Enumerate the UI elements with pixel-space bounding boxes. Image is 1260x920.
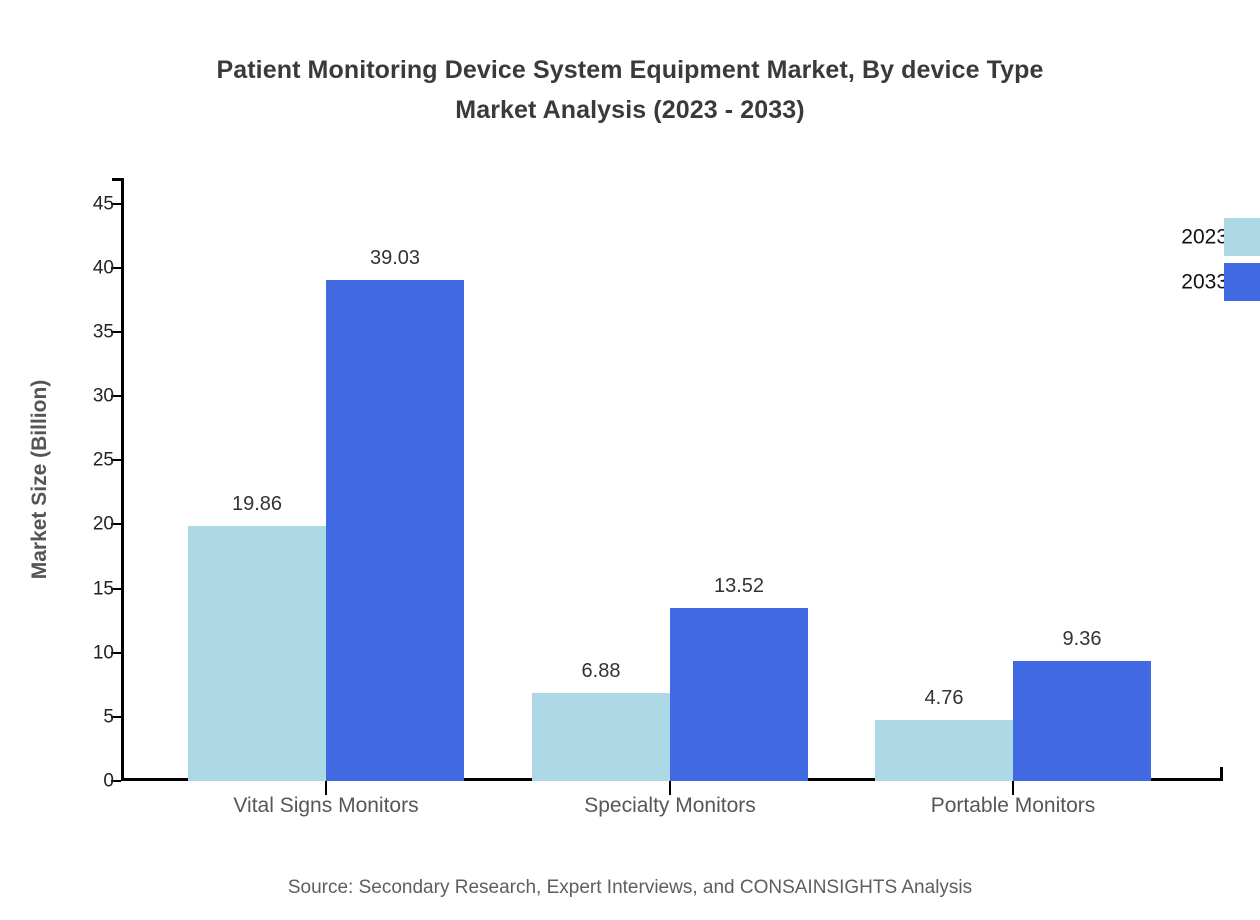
y-axis-tick-label: 15 (93, 579, 114, 598)
bar-value-label: 39.03 (370, 248, 420, 268)
bar-value-label: 19.86 (232, 494, 282, 514)
bar-value-label: 6.88 (582, 661, 621, 681)
y-axis-tick-label: 25 (93, 451, 114, 470)
chart-title: Patient Monitoring Device System Equipme… (0, 50, 1260, 130)
y-axis-tick-label: 40 (93, 258, 114, 277)
y-axis-tick-label: 0 (103, 772, 114, 791)
x-axis-category-label: Portable Monitors (931, 793, 1096, 818)
y-axis-top-cap (112, 178, 124, 181)
bar-value-label: 13.52 (714, 576, 764, 596)
legend-item-label: 2033 (1181, 272, 1228, 293)
y-axis-spine (121, 178, 124, 781)
bar-value-label: 4.76 (925, 688, 964, 708)
x-axis-category-label: Vital Signs Monitors (233, 793, 418, 818)
legend-item-2033[interactable]: 2033 (1105, 263, 1260, 301)
chart-legend: 20232033 (1105, 218, 1260, 308)
legend-color-swatch (1224, 218, 1260, 256)
y-axis-tick-label: 5 (103, 707, 114, 726)
y-axis-tick-label: 45 (93, 194, 114, 213)
y-axis-tick-label: 30 (93, 387, 114, 406)
bar-value-label: 9.36 (1063, 629, 1102, 649)
chart-title-line-2: Market Analysis (2023 - 2033) (0, 90, 1260, 130)
legend-item-label: 2023 (1181, 227, 1228, 248)
chart-title-line-1: Patient Monitoring Device System Equipme… (0, 50, 1260, 90)
bar-2023-0[interactable] (188, 526, 326, 781)
x-axis-category-label: Specialty Monitors (584, 793, 756, 818)
legend-item-2023[interactable]: 2023 (1105, 218, 1260, 256)
legend-color-swatch (1224, 263, 1260, 301)
y-axis-title: Market Size (Billion) (22, 178, 58, 781)
y-axis-tick-label: 20 (93, 515, 114, 534)
y-axis-tick-label: 10 (93, 643, 114, 662)
plot-area: 051015202530354045 19.8639.036.8813.524.… (121, 178, 1223, 781)
y-axis-tick-label: 35 (93, 322, 114, 341)
bar-2033-2[interactable] (1013, 661, 1151, 781)
bar-2023-1[interactable] (532, 693, 670, 781)
chart-figure: Patient Monitoring Device System Equipme… (0, 0, 1260, 920)
source-note: Source: Secondary Research, Expert Inter… (0, 878, 1260, 897)
bar-2023-2[interactable] (875, 720, 1013, 781)
bar-2033-1[interactable] (670, 608, 808, 781)
x-axis-end-cap (1220, 767, 1223, 781)
bar-2033-0[interactable] (326, 280, 464, 781)
